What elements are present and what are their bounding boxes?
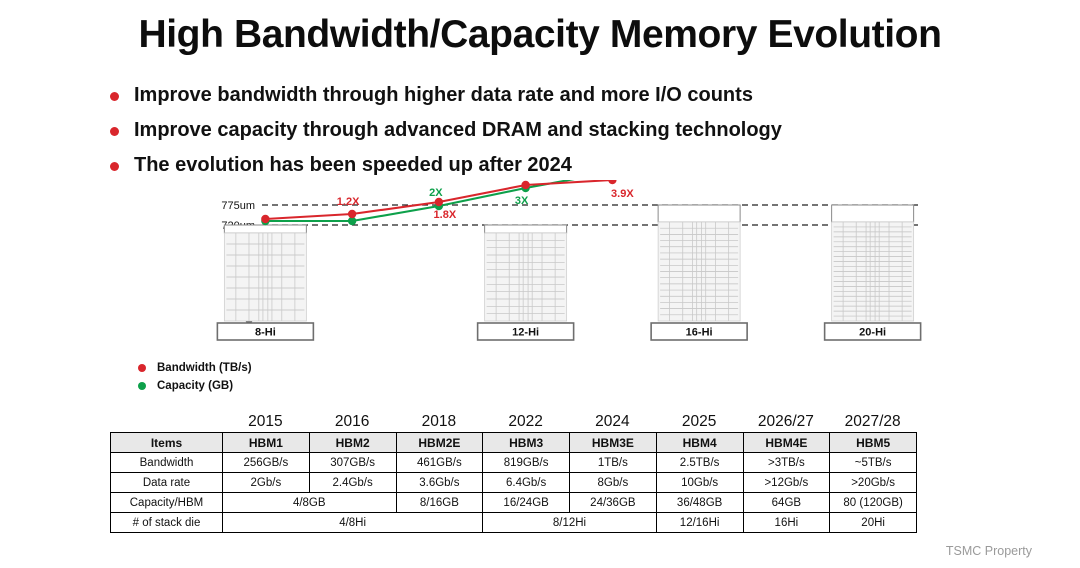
table-cell: 2.4Gb/s bbox=[309, 473, 396, 493]
bullet-dot-icon bbox=[110, 162, 119, 171]
table-row: # of stack die4/8Hi8/12Hi12/16Hi16Hi20Hi bbox=[111, 513, 917, 533]
table-cell: 4/8GB bbox=[223, 493, 397, 513]
year-label: 2024 bbox=[569, 413, 656, 431]
stack-label: 16-Hi bbox=[686, 327, 713, 339]
table-row: Bandwidth256GB/s307GB/s461GB/s819GB/s1TB… bbox=[111, 453, 917, 473]
data-label: 3X bbox=[515, 195, 529, 207]
table-cell: 256GB/s bbox=[223, 453, 310, 473]
stack-label: 8-Hi bbox=[255, 327, 276, 339]
footer-note: TSMC Property bbox=[946, 544, 1032, 558]
year-label: 2026/27 bbox=[743, 413, 830, 431]
data-label: 1.2X bbox=[337, 196, 360, 208]
bullet-list: Improve bandwidth through higher data ra… bbox=[110, 83, 1010, 188]
bullet-item: Improve capacity through advanced DRAM a… bbox=[110, 118, 1010, 153]
bullet-text: Improve bandwidth through higher data ra… bbox=[134, 83, 753, 108]
bullet-text: The evolution has been speeded up after … bbox=[134, 153, 572, 178]
table-cell: 2.5TB/s bbox=[656, 453, 743, 473]
table-row-label: Data rate bbox=[111, 473, 223, 493]
table-cell: 12/16Hi bbox=[656, 513, 743, 533]
series-line-solid bbox=[265, 180, 699, 219]
table-header-cell: HBM5 bbox=[830, 433, 917, 453]
table-cell: 20Hi bbox=[830, 513, 917, 533]
table-cell: >3TB/s bbox=[743, 453, 830, 473]
year-header-row: 2015201620182022202420252026/272027/28 bbox=[110, 413, 916, 431]
legend-dot-icon bbox=[138, 382, 146, 390]
bullet-text: Improve capacity through advanced DRAM a… bbox=[134, 118, 782, 143]
data-point bbox=[608, 180, 616, 184]
bullet-item: Improve bandwidth through higher data ra… bbox=[110, 83, 1010, 118]
spec-table: ItemsHBM1HBM2HBM2EHBM3HBM3EHBM4HBM4EHBM5… bbox=[110, 432, 917, 533]
data-point bbox=[435, 198, 443, 206]
table-cell: >12Gb/s bbox=[743, 473, 830, 493]
table-cell: 6.4Gb/s bbox=[483, 473, 570, 493]
hbm-stack-16-hi: 16-Hi bbox=[651, 205, 747, 340]
hbm-stack-8-hi: 8-Hi bbox=[217, 225, 313, 340]
table-cell: 4/8Hi bbox=[223, 513, 483, 533]
table-header-cell: HBM4E bbox=[743, 433, 830, 453]
table-row-label: Bandwidth bbox=[111, 453, 223, 473]
table-cell: >20Gb/s bbox=[830, 473, 917, 493]
table-cell: ~5TB/s bbox=[830, 453, 917, 473]
table-cell: 819GB/s bbox=[483, 453, 570, 473]
table-row: Capacity/HBM4/8GB8/16GB16/24GB24/36GB36/… bbox=[111, 493, 917, 513]
table-row-label: Capacity/HBM bbox=[111, 493, 223, 513]
bullet-dot-icon bbox=[110, 127, 119, 136]
year-label: 2027/28 bbox=[829, 413, 916, 431]
table-cell: 24/36GB bbox=[570, 493, 657, 513]
table-cell: 3.6Gb/s bbox=[396, 473, 483, 493]
table-header-cell: HBM2 bbox=[309, 433, 396, 453]
data-point bbox=[348, 210, 356, 218]
table-header-cell: HBM3 bbox=[483, 433, 570, 453]
table-row-label: # of stack die bbox=[111, 513, 223, 533]
stack-cap bbox=[832, 205, 914, 222]
table-cell: 10Gb/s bbox=[656, 473, 743, 493]
stack-cap bbox=[224, 225, 306, 233]
legend-label: Capacity (GB) bbox=[157, 380, 233, 392]
stack-cap bbox=[485, 225, 567, 233]
reference-label-775um: 775um bbox=[221, 200, 255, 212]
stack-label: 20-Hi bbox=[859, 327, 886, 339]
slide-root: High Bandwidth/Capacity Memory Evolution… bbox=[0, 0, 1080, 568]
table-cell: 8/12Hi bbox=[483, 513, 657, 533]
legend-item-capacity: Capacity (GB) bbox=[138, 378, 252, 393]
year-label: 2022 bbox=[482, 413, 569, 431]
table-header-cell: HBM4 bbox=[656, 433, 743, 453]
table-row: Data rate2Gb/s2.4Gb/s3.6Gb/s6.4Gb/s8Gb/s… bbox=[111, 473, 917, 493]
series-bandwidth: 1.2X1.8X3.2X3.9X9.8X11.7X19.5X bbox=[261, 180, 920, 223]
page-title: High Bandwidth/Capacity Memory Evolution bbox=[0, 14, 1080, 57]
bullet-dot-icon bbox=[110, 92, 119, 101]
year-row-spacer bbox=[110, 413, 222, 431]
year-label: 2016 bbox=[309, 413, 396, 431]
hbm-stack-20-hi: 20-Hi bbox=[825, 205, 921, 340]
table-cell: 1TB/s bbox=[570, 453, 657, 473]
table-cell: 461GB/s bbox=[396, 453, 483, 473]
table-cell: 307GB/s bbox=[309, 453, 396, 473]
year-label: 2015 bbox=[222, 413, 309, 431]
table-cell: 80 (120GB) bbox=[830, 493, 917, 513]
data-label: 2X bbox=[429, 187, 443, 199]
legend-dot-icon bbox=[138, 364, 146, 372]
stack-cap bbox=[658, 205, 740, 222]
table-cell: 16/24GB bbox=[483, 493, 570, 513]
year-label: 2025 bbox=[656, 413, 743, 431]
data-point bbox=[261, 215, 269, 223]
table-cell: 8Gb/s bbox=[570, 473, 657, 493]
table-cell: 2Gb/s bbox=[223, 473, 310, 493]
table-cell: 8/16GB bbox=[396, 493, 483, 513]
stack-label: 12-Hi bbox=[512, 327, 539, 339]
table-header-items: Items bbox=[111, 433, 223, 453]
data-label: 3.9X bbox=[611, 188, 634, 200]
table-cell: 36/48GB bbox=[656, 493, 743, 513]
year-label: 2018 bbox=[396, 413, 483, 431]
data-label: 1.8X bbox=[434, 209, 457, 221]
table-header-row: ItemsHBM1HBM2HBM2EHBM3HBM3EHBM4HBM4EHBM5 bbox=[111, 433, 917, 453]
table-header-cell: HBM2E bbox=[396, 433, 483, 453]
chart-legend: Bandwidth (TB/s) Capacity (GB) bbox=[138, 360, 252, 396]
legend-item-bandwidth: Bandwidth (TB/s) bbox=[138, 360, 252, 375]
legend-label: Bandwidth (TB/s) bbox=[157, 362, 252, 374]
table-cell: 16Hi bbox=[743, 513, 830, 533]
hbm-stack-12-hi: 12-Hi bbox=[478, 225, 574, 340]
table-header-cell: HBM1 bbox=[223, 433, 310, 453]
table-header-cell: HBM3E bbox=[570, 433, 657, 453]
table-cell: 64GB bbox=[743, 493, 830, 513]
data-point bbox=[521, 181, 529, 189]
